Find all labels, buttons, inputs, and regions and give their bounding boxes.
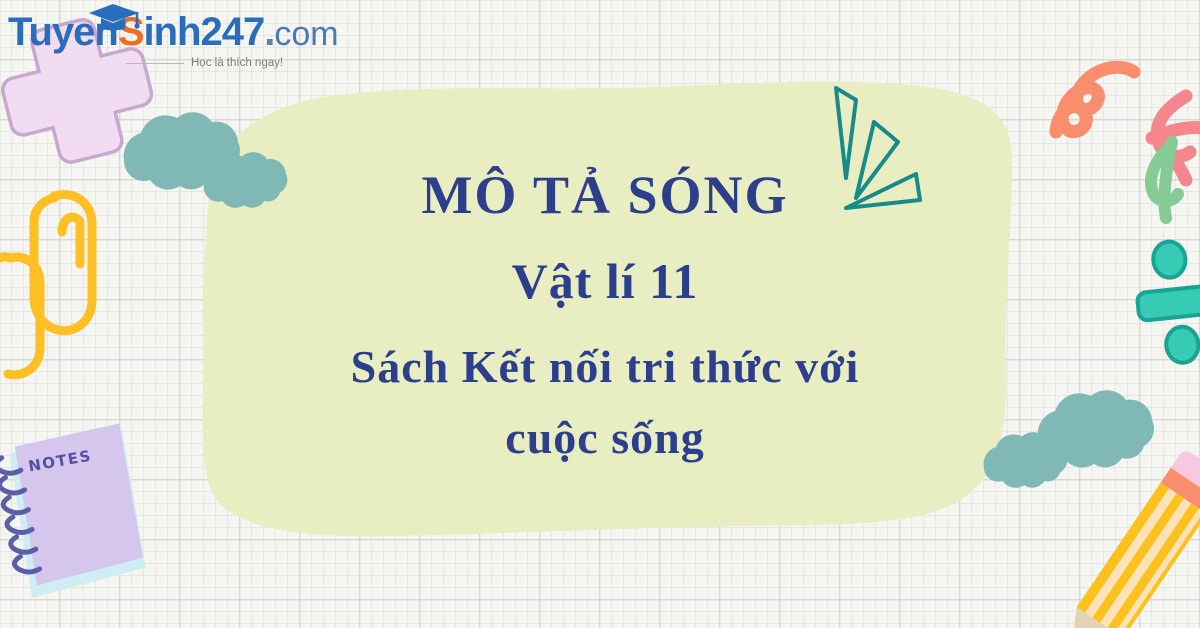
logo-tagline-row: Học là thích ngay! [126, 54, 336, 72]
book-series-line-2: cuộc sống [210, 407, 1000, 468]
logo-wordmark[interactable]: TuyenSinh247.com [8, 12, 339, 52]
subject-title: Vật lí 11 [210, 248, 1000, 315]
page-title: MÔ TẢ SÓNG [210, 160, 1000, 232]
logo-text-com: com [274, 15, 338, 53]
title-block: MÔ TẢ SÓNG Vật lí 11 Sách Kết nối tri th… [210, 160, 1000, 469]
graduation-cap-icon [85, 1, 141, 31]
logo-text-dot: . [264, 10, 274, 54]
logo-tagline: Học là thích ngay! [191, 57, 283, 69]
tagline-rule [126, 63, 184, 64]
logo-text-inh: inh [144, 10, 201, 54]
poster-canvas: TuyenSinh247.com Học là thích ngay! MÔ T… [0, 0, 1200, 628]
site-logo[interactable]: TuyenSinh247.com Học là thích ngay! [8, 4, 338, 76]
book-series-line-1: Sách Kết nối tri thức với [210, 336, 1000, 397]
logo-text-247: 247 [201, 10, 265, 54]
